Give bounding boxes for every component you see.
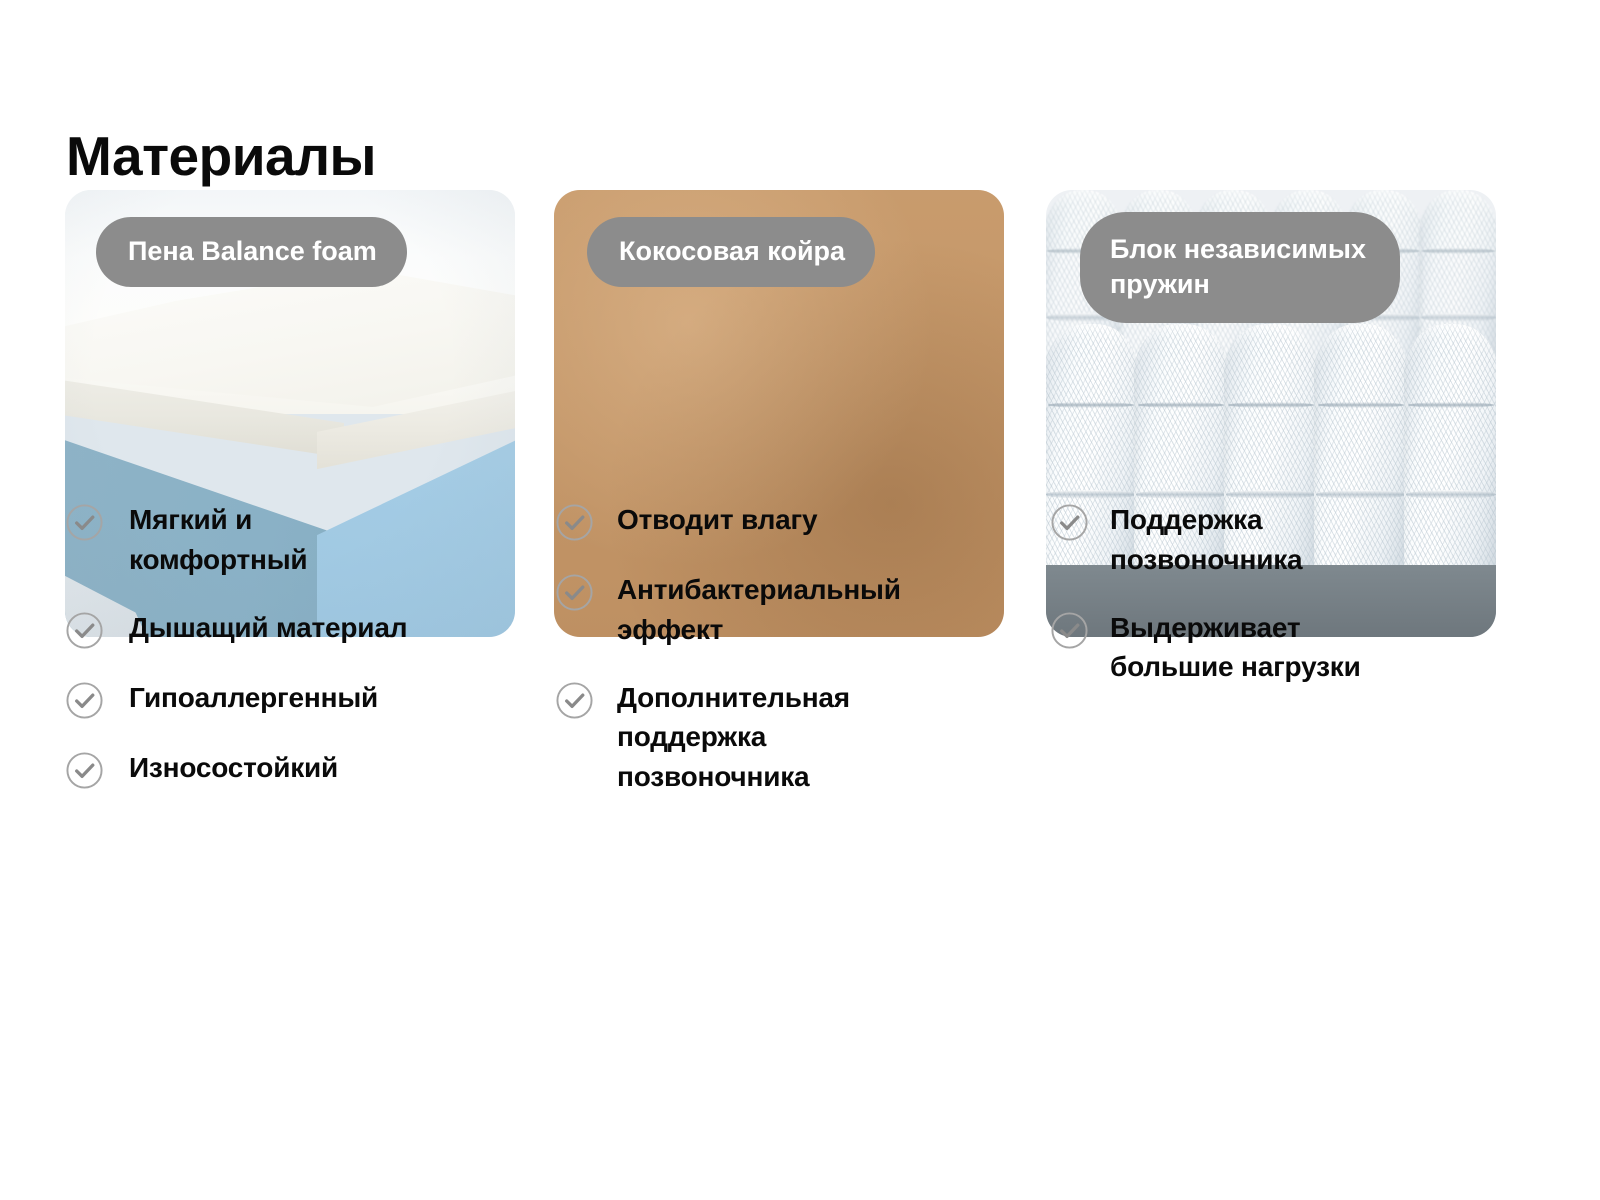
- check-circle-icon: [65, 611, 104, 650]
- feature-label: Мягкий и комфортный: [129, 500, 307, 580]
- material-badge-foam: Пена Balance foam: [96, 217, 407, 287]
- feature-label: Антибактериальный эффект: [617, 570, 901, 650]
- check-circle-icon: [65, 681, 104, 720]
- material-badge-coir: Кокосовая койра: [587, 217, 875, 287]
- feature-list-springs: Поддержка позвоночника Выдерживает больш…: [1050, 500, 1520, 715]
- check-circle-icon: [65, 751, 104, 790]
- page-title: Материалы: [66, 129, 376, 184]
- check-circle-icon: [1050, 503, 1089, 542]
- list-item: Мягкий и комфортный: [65, 500, 535, 580]
- list-item: Отводит влагу: [555, 500, 1025, 542]
- feature-label: Износостойкий: [129, 748, 338, 788]
- check-circle-icon: [555, 573, 594, 612]
- check-circle-icon: [555, 681, 594, 720]
- feature-label: Гипоаллергенный: [129, 678, 378, 718]
- check-circle-icon: [1050, 611, 1089, 650]
- check-circle-icon: [555, 503, 594, 542]
- list-item: Износостойкий: [65, 748, 535, 790]
- feature-label: Отводит влагу: [617, 500, 817, 540]
- feature-list-coir: Отводит влагу Антибактериальный эффект Д…: [555, 500, 1025, 825]
- list-item: Гипоаллергенный: [65, 678, 535, 720]
- feature-label: Поддержка позвоночника: [1110, 500, 1302, 580]
- list-item: Антибактериальный эффект: [555, 570, 1025, 650]
- feature-label: Выдерживает большие нагрузки: [1110, 608, 1361, 688]
- list-item: Дополнительная поддержка позвоночника: [555, 678, 1025, 797]
- list-item: Поддержка позвоночника: [1050, 500, 1520, 580]
- feature-list-foam: Мягкий и комфортный Дышащий материал Гип…: [65, 500, 535, 818]
- list-item: Выдерживает большие нагрузки: [1050, 608, 1520, 688]
- feature-label: Дышащий материал: [129, 608, 407, 648]
- feature-label: Дополнительная поддержка позвоночника: [617, 678, 850, 797]
- material-badge-springs: Блок независимых пружин: [1080, 212, 1400, 323]
- list-item: Дышащий материал: [65, 608, 535, 650]
- check-circle-icon: [65, 503, 104, 542]
